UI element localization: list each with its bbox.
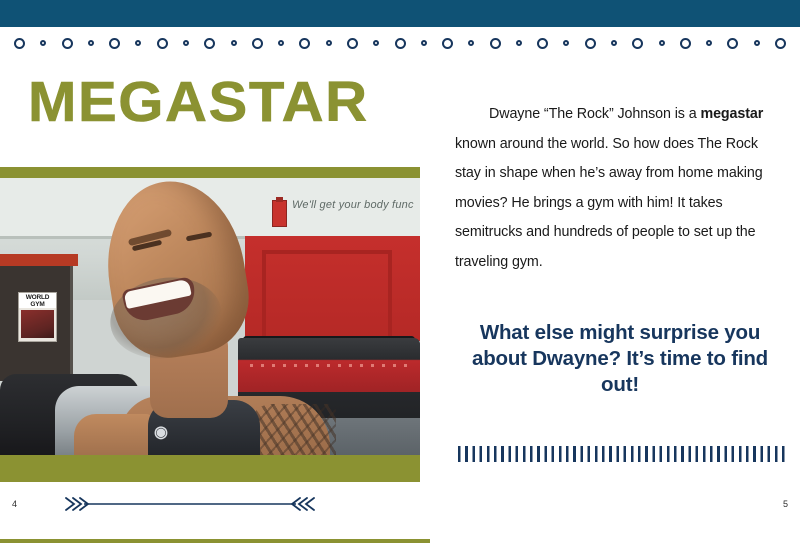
dot-large: [585, 38, 596, 49]
dot-large: [157, 38, 168, 49]
body-text-bold-term: megastar: [700, 106, 763, 122]
photo-frame: We'll get your body func WORLD GYM ◉: [0, 167, 420, 482]
dot-small: [421, 40, 427, 46]
dot-rule-decoration: [0, 30, 800, 56]
right-page-number: 5: [783, 499, 788, 509]
dot-small: [659, 40, 665, 46]
dot-large: [775, 38, 786, 49]
left-page-column: MEGASTAR We'll get your body func WORLD …: [0, 56, 430, 486]
photo-red-door: [262, 250, 392, 340]
dot-large: [109, 38, 120, 49]
body-text-part2: known around the world. So how does The …: [455, 136, 763, 270]
body-paragraph: Dwayne “The Rock” Johnson is a megastar …: [455, 100, 785, 277]
photo-person-arm: [74, 414, 154, 455]
photo-poster-title: WORLD GYM: [19, 293, 56, 308]
right-page-column: Dwayne “The Rock” Johnson is a megastar …: [455, 100, 785, 398]
dot-large: [442, 38, 453, 49]
dot-large: [204, 38, 215, 49]
photo-awning: [0, 254, 78, 266]
tank-top-brand-icon: ◉: [148, 424, 174, 442]
dot-large: [14, 38, 25, 49]
dot-large: [490, 38, 501, 49]
dot-small: [754, 40, 760, 46]
dot-small: [468, 40, 474, 46]
photo-world-gym-poster: WORLD GYM: [18, 292, 57, 342]
dot-large: [632, 38, 643, 49]
dot-large: [299, 38, 310, 49]
dot-small: [135, 40, 141, 46]
dot-small: [563, 40, 569, 46]
dot-large: [537, 38, 548, 49]
dot-small: [516, 40, 522, 46]
dot-small: [40, 40, 46, 46]
photo-truck-trim: [250, 364, 415, 367]
dot-large: [727, 38, 738, 49]
dot-large: [395, 38, 406, 49]
page-title: MEGASTAR: [28, 74, 369, 131]
dot-large: [347, 38, 358, 49]
dot-small: [326, 40, 332, 46]
dot-small: [611, 40, 617, 46]
double-chevron-divider: [62, 495, 318, 513]
dot-small: [231, 40, 237, 46]
dot-small: [373, 40, 379, 46]
left-page-number: 4: [12, 499, 17, 509]
dot-large: [680, 38, 691, 49]
dot-small: [278, 40, 284, 46]
dot-small: [88, 40, 94, 46]
body-text-part1: Dwayne “The Rock” Johnson is a: [489, 106, 700, 122]
book-spread-page: MEGASTAR We'll get your body func WORLD …: [0, 0, 800, 528]
fire-extinguisher-icon: [272, 200, 287, 227]
photo-poster-art: [21, 310, 54, 338]
left-page-bottom-rule: [0, 539, 430, 543]
callout-question: What else might surprise you about Dwayn…: [455, 320, 785, 398]
tick-rule-decoration: [458, 446, 786, 462]
dot-large: [62, 38, 73, 49]
dot-small: [706, 40, 712, 46]
dot-large: [252, 38, 263, 49]
photo-dwayne-johnson: We'll get your body func WORLD GYM ◉: [0, 178, 420, 455]
photo-person-tattoo: [250, 404, 336, 455]
double-chevron-divider-svg: [62, 495, 318, 513]
top-navy-band: [0, 0, 800, 27]
dot-small: [183, 40, 189, 46]
photo-sign-text: We'll get your body func: [292, 199, 414, 211]
